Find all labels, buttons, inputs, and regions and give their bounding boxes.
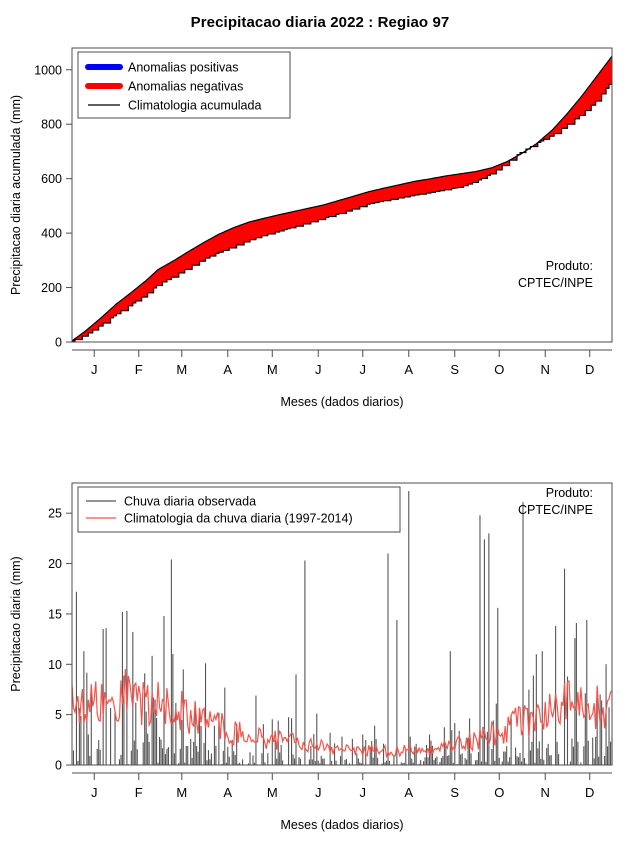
y-tick-label-4: 20 xyxy=(48,557,62,571)
produto-label-line1: Produto: xyxy=(546,259,593,273)
x-tick-label-10: N xyxy=(541,785,550,800)
y-tick-label-1: 200 xyxy=(41,281,62,295)
produto-label-line2: CPTEC/INPE xyxy=(518,503,593,517)
y-tick-label-3: 600 xyxy=(41,172,62,186)
y-tick-label-5: 1000 xyxy=(34,63,62,77)
x-tick-label-4: M xyxy=(267,362,278,377)
x-axis-title: Meses (dados diarios) xyxy=(281,818,404,832)
x-tick-label-5: J xyxy=(315,362,322,377)
x-tick-label-4: M xyxy=(267,785,278,800)
x-axis-title: Meses (dados diarios) xyxy=(281,395,404,409)
x-tick-label-8: S xyxy=(450,362,459,377)
y-tick-label-5: 25 xyxy=(48,507,62,521)
legend-label-2: Climatologia acumulada xyxy=(128,99,261,113)
x-tick-label-9: O xyxy=(494,785,504,800)
y-tick-label-2: 10 xyxy=(48,658,62,672)
x-tick-label-0: J xyxy=(91,362,98,377)
x-tick-label-11: D xyxy=(585,785,594,800)
y-tick-label-0: 0 xyxy=(55,759,62,773)
y-tick-label-0: 0 xyxy=(55,336,62,350)
daily-chart-svg: 0510152025Precipitacao diaria (mm)JFMAMJ… xyxy=(0,425,640,850)
x-tick-label-2: M xyxy=(176,362,187,377)
legend-label-1: Anomalias negativas xyxy=(128,80,243,94)
x-tick-label-8: S xyxy=(450,785,459,800)
daily-precipitation-chart: 0510152025Precipitacao diaria (mm)JFMAMJ… xyxy=(0,425,640,850)
x-tick-label-10: N xyxy=(541,362,550,377)
legend-label-1: Climatologia da chuva diaria (1997-2014) xyxy=(124,512,353,526)
x-tick-label-1: F xyxy=(135,362,143,377)
y-axis-title: Precipitacao diaria acumulada (mm) xyxy=(9,95,23,295)
y-tick-label-2: 400 xyxy=(41,227,62,241)
x-tick-label-6: J xyxy=(360,362,367,377)
x-tick-label-3: A xyxy=(223,785,232,800)
x-tick-label-5: J xyxy=(315,785,322,800)
x-tick-label-7: A xyxy=(404,785,413,800)
x-tick-label-11: D xyxy=(585,362,594,377)
x-tick-label-0: J xyxy=(91,785,98,800)
y-axis-title: Precipitacao diaria (mm) xyxy=(9,556,23,691)
x-tick-label-9: O xyxy=(494,362,504,377)
x-tick-label-1: F xyxy=(135,785,143,800)
y-tick-label-1: 5 xyxy=(55,708,62,722)
negative-anomaly-area xyxy=(72,155,517,341)
legend-label-0: Chuva diaria observada xyxy=(124,495,256,509)
legend-label-0: Anomalias positivas xyxy=(128,61,238,75)
produto-label-line1: Produto: xyxy=(546,486,593,500)
x-tick-label-6: J xyxy=(360,785,367,800)
x-tick-label-3: A xyxy=(223,362,232,377)
y-tick-label-3: 15 xyxy=(48,607,62,621)
x-tick-label-7: A xyxy=(404,362,413,377)
x-tick-label-2: M xyxy=(176,785,187,800)
accumulated-precipitation-chart: 02004006008001000Precipitacao diaria acu… xyxy=(0,0,640,425)
accumulated-chart-svg: 02004006008001000Precipitacao diaria acu… xyxy=(0,0,640,425)
figure-root: Precipitacao diaria 2022 : Regiao 97 020… xyxy=(0,0,640,850)
y-tick-label-4: 800 xyxy=(41,118,62,132)
produto-label-line2: CPTEC/INPE xyxy=(518,276,593,290)
